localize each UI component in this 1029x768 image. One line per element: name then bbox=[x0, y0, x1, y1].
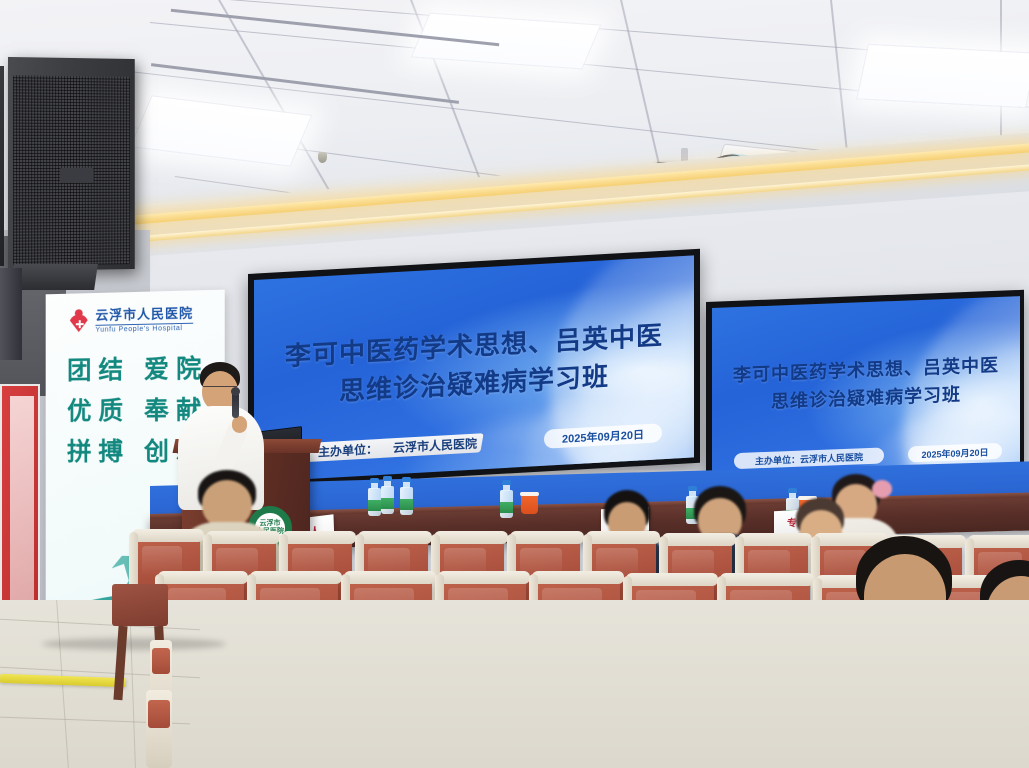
fire-sprinkler bbox=[318, 152, 327, 163]
hospital-logo-icon bbox=[69, 309, 91, 333]
seat-armrest-pad bbox=[152, 648, 170, 674]
side-organizer-label: 主办单位： bbox=[755, 452, 800, 467]
hospital-name-en: Yunfu People's Hospital bbox=[95, 323, 193, 334]
banner-slogan-line-1: 团结 爱院 bbox=[67, 349, 208, 392]
seat-armrest-pad bbox=[148, 700, 170, 728]
ceiling-panel-light bbox=[856, 44, 1029, 108]
speaker-mount-bracket bbox=[10, 264, 98, 290]
ceiling-panel-light bbox=[130, 95, 313, 166]
ceiling-panel-light bbox=[411, 13, 602, 70]
water-bottle bbox=[500, 480, 513, 518]
organizer-label: 主办单位： bbox=[316, 439, 380, 462]
banner-ground-shadow bbox=[42, 638, 226, 650]
main-projection-screen: 李可中医药学术思想、吕英中医 思维诊治疑难病学习班 主办单位： 云浮市人民医院 … bbox=[254, 255, 694, 482]
fire-extinguisher-cabinet[interactable] bbox=[0, 384, 40, 624]
water-bottle bbox=[368, 478, 381, 516]
handheld-microphone[interactable] bbox=[232, 392, 239, 418]
water-bottle bbox=[400, 477, 413, 515]
speaker-side-panel bbox=[0, 66, 4, 266]
side-organizer-value: 云浮市人民医院 bbox=[800, 450, 863, 465]
speaker-mount-pole bbox=[0, 268, 22, 360]
conference-hall-photo: 云浮市人民医院 Yunfu People's Hospital 团结 爱院 优质… bbox=[0, 0, 1029, 768]
cabinet-glass bbox=[10, 396, 34, 612]
hospital-logo: 云浮市人民医院 Yunfu People's Hospital bbox=[69, 307, 193, 335]
water-bottle bbox=[381, 476, 394, 514]
paper-cup bbox=[521, 492, 538, 514]
speaker-brand-badge bbox=[60, 168, 94, 183]
hospital-name-cn: 云浮市人民医院 bbox=[95, 307, 193, 323]
presenter-hand bbox=[232, 416, 247, 433]
